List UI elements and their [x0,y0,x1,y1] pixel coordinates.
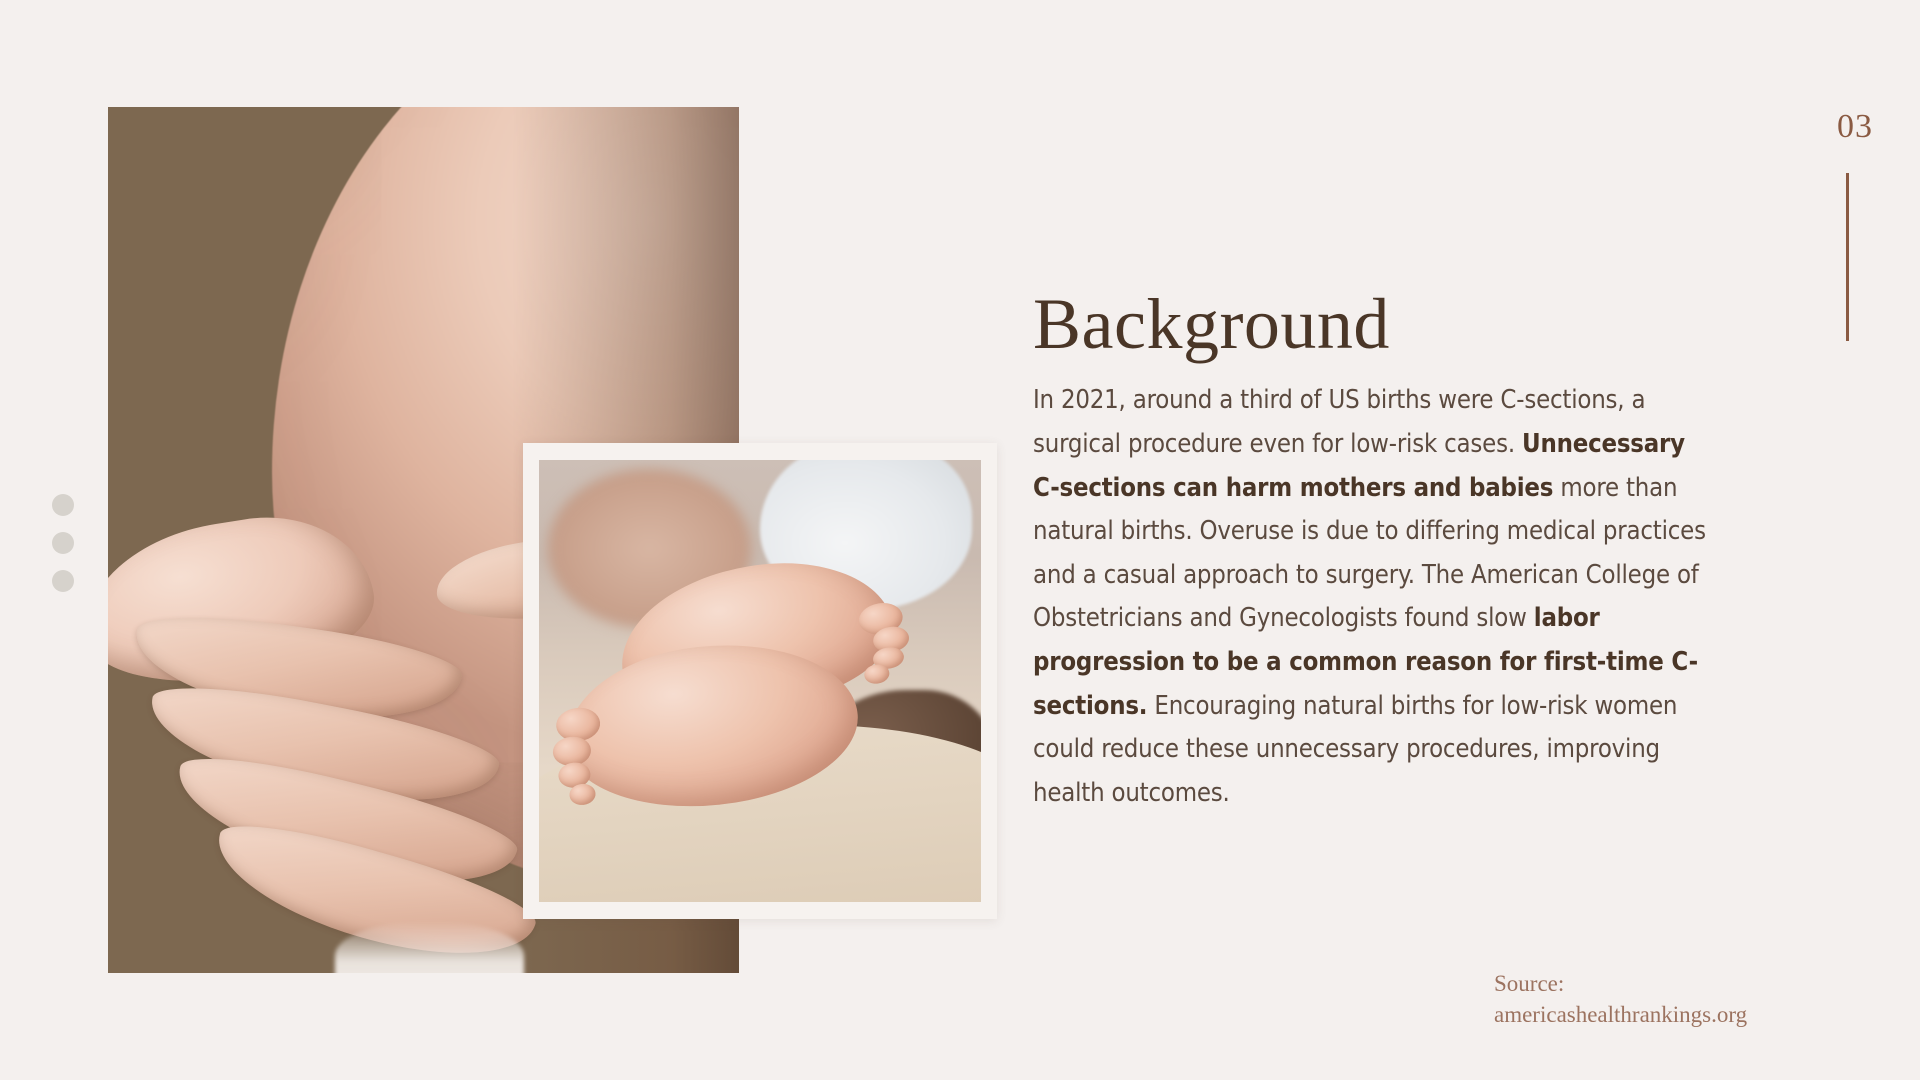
page-marker-rule [1846,173,1849,341]
decorative-dot [52,570,74,592]
inset-photo-baby-feet [539,460,981,902]
inset-photo-frame [523,443,997,919]
inset-photo-image [539,460,981,902]
source-label: Source: [1494,971,1564,996]
source-note: Source: americashealthrankings.org [1494,968,1824,1030]
page-marker: 03 [1820,110,1890,144]
slide-background: Background In 2021, around a third of US… [0,0,1920,1080]
decorative-dot [52,494,74,516]
toe-shape [863,663,890,685]
page-title: Background [1033,288,1713,361]
decorative-dot [52,532,74,554]
body-paragraph: In 2021, around a third of US births wer… [1033,379,1713,815]
decorative-dots-group [52,494,74,592]
page-number: 03 [1820,110,1890,144]
text-column: Background In 2021, around a third of US… [1033,288,1713,815]
source-url: americashealthrankings.org [1494,1002,1747,1027]
